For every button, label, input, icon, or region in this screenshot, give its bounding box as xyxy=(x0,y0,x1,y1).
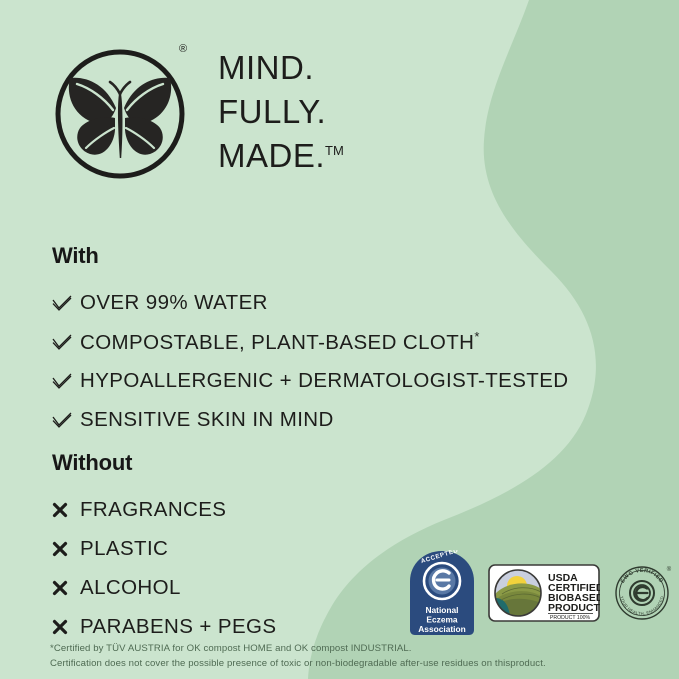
trademark-symbol: TM xyxy=(325,143,344,158)
list-item: OVER 99% WATER xyxy=(52,283,569,322)
without-item-list: FRAGRANCES PLASTIC ALCOHOL xyxy=(52,490,276,646)
x-glyph xyxy=(52,502,68,518)
wordmark-line-1: MIND. xyxy=(218,46,344,90)
with-section-title: With xyxy=(52,243,569,269)
x-mark-icon xyxy=(52,619,80,635)
list-item: HYPOALLERGENIC + DERMATOLOGIST-TESTED xyxy=(52,361,569,400)
without-section: Without FRAGRANCES PLASTIC xyxy=(52,450,276,646)
check-mark-icon xyxy=(52,373,80,389)
footnote: *Certified by TÜV AUSTRIA for OK compost… xyxy=(50,642,650,672)
list-item-text: COMPOSTABLE, PLANT-BASED CLOTH xyxy=(80,330,474,353)
national-eczema-association-badge: ACCEPTED National Eczema Association xyxy=(406,550,478,636)
x-glyph xyxy=(52,580,68,596)
list-item-label: PARABENS + PEGS xyxy=(80,615,276,639)
footnote-line-1: *Certified by TÜV AUSTRIA for OK compost… xyxy=(50,642,650,657)
list-item-label: HYPOALLERGENIC + DERMATOLOGIST-TESTED xyxy=(80,369,569,393)
list-item-label: SENSITIVE SKIN IN MIND xyxy=(80,408,334,432)
list-item: FRAGRANCES xyxy=(52,490,276,529)
check-mark-icon xyxy=(52,334,80,350)
ewg-registered-symbol: ® xyxy=(667,566,672,573)
list-item: PLASTIC xyxy=(52,529,276,568)
wordmark-line-3: MADE.TM xyxy=(218,134,344,178)
badge-nea-line1: National xyxy=(425,605,458,615)
check-mark-icon xyxy=(52,295,80,311)
with-item-list: OVER 99% WATER COMPOSTABLE, PLANT-BASED … xyxy=(52,283,569,439)
without-section-title: Without xyxy=(52,450,276,476)
check-glyph xyxy=(52,295,72,311)
butterfly-in-circle-icon xyxy=(52,38,200,186)
usda-line-4: PRODUCT xyxy=(548,602,600,614)
certification-badge-row: ACCEPTED National Eczema Association xyxy=(406,550,675,636)
list-item-footnote-marker: * xyxy=(474,329,479,344)
check-glyph xyxy=(52,412,72,428)
x-mark-icon xyxy=(52,502,80,518)
check-mark-icon xyxy=(52,412,80,428)
product-claims-poster: ® MIND. FULLY. MADE.TM With OVER 99% WAT… xyxy=(0,0,679,679)
usda-line-5: PRODUCT 100% xyxy=(550,615,591,621)
wordmark-line-2: FULLY. xyxy=(218,90,344,134)
x-mark-icon xyxy=(52,541,80,557)
with-section: With OVER 99% WATER COMP xyxy=(52,243,569,439)
brand-wordmark: MIND. FULLY. MADE.TM xyxy=(218,46,344,178)
check-glyph xyxy=(52,334,72,350)
list-item-label: ALCOHOL xyxy=(80,576,181,600)
list-item: COMPOSTABLE, PLANT-BASED CLOTH* xyxy=(52,322,569,361)
list-item: ALCOHOL xyxy=(52,568,276,607)
x-mark-icon xyxy=(52,580,80,596)
x-glyph xyxy=(52,541,68,557)
brand-logo-row: ® MIND. FULLY. MADE.TM xyxy=(52,38,344,186)
list-item: PARABENS + PEGS xyxy=(52,607,276,646)
badge-nea-line2: Eczema xyxy=(426,615,458,625)
list-item-label: FRAGRANCES xyxy=(80,498,226,522)
check-glyph xyxy=(52,373,72,389)
badge-nea-line3: Association xyxy=(418,624,465,634)
list-item: SENSITIVE SKIN IN MIND xyxy=(52,400,569,439)
wordmark-line-3-text: MADE. xyxy=(218,137,325,174)
x-glyph xyxy=(52,619,68,635)
list-item-label: PLASTIC xyxy=(80,537,168,561)
ewg-verified-badge: EWG VERIFIED YOUR HEALTH. ENHANCED ® xyxy=(609,560,675,626)
registered-trademark-symbol: ® xyxy=(179,44,187,55)
list-item-label: OVER 99% WATER xyxy=(80,291,268,315)
list-item-label: COMPOSTABLE, PLANT-BASED CLOTH* xyxy=(80,329,480,355)
butterfly-logo-icon: ® xyxy=(52,38,200,186)
footnote-line-2: Certification does not cover the possibl… xyxy=(50,657,650,672)
usda-certified-biobased-product-badge: USDA CERTIFIED BIOBASED PRODUCT PRODUCT … xyxy=(488,564,600,622)
